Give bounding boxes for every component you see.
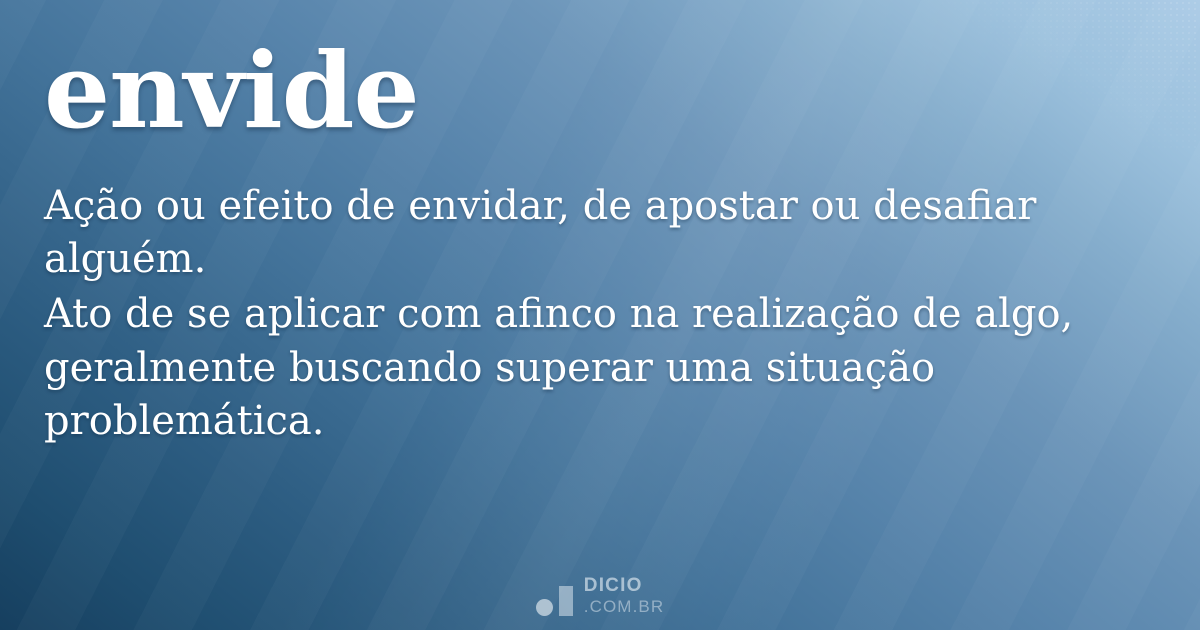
brand-name: DICIO	[584, 576, 664, 595]
definition-list: Ação ou efeito de envidar, de apostar ou…	[44, 180, 1156, 448]
definition-card: envide Ação ou efeito de envidar, de apo…	[0, 0, 1200, 630]
logo-bar-icon	[559, 586, 573, 616]
definition-item: Ação ou efeito de envidar, de apostar ou…	[44, 180, 1156, 286]
brand-wordmark: DICIO .COM.BR	[584, 576, 664, 616]
headword: envide	[44, 38, 1156, 144]
card-content: envide Ação ou efeito de envidar, de apo…	[0, 0, 1200, 630]
dicio-logo-icon	[536, 584, 573, 616]
brand-domain: .COM.BR	[584, 598, 664, 615]
definition-item: Ato de se aplicar com afinco na realizaç…	[44, 288, 1156, 448]
logo-circle-icon	[536, 599, 553, 616]
brand-logo[interactable]: DICIO .COM.BR	[0, 576, 1200, 616]
